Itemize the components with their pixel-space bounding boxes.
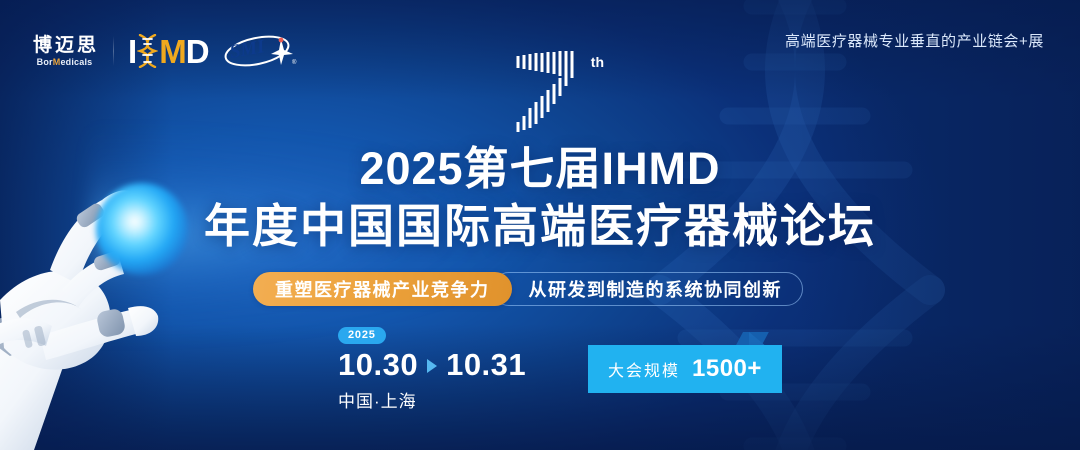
ihmd-letter-i: I (128, 35, 136, 68)
conference-banner: 博迈思 BorMedicals I (0, 0, 1080, 450)
subtitle-pills: 重塑医疗器械产业竞争力 从研发到制造的系统协同创新 (0, 272, 1080, 306)
year-badge: 2025 (338, 327, 386, 344)
tagline: 高端医疗器械专业垂直的产业链会+展 (785, 30, 1044, 51)
bormedicals-en-pre: Bor (37, 57, 53, 67)
bormedicals-logo-en: BorMedicals (37, 58, 93, 67)
page-title-line2: 年度中国国际高端医疗器械论坛 (0, 203, 1080, 249)
edition-ordinal-suffix: th (591, 54, 604, 70)
scale-ribbon-value: 1500+ (692, 355, 762, 383)
bormedicals-logo-cn: 博迈思 (30, 36, 99, 55)
event-location: 中国·上海 (338, 387, 538, 412)
logo-row: 博迈思 BorMedicals I (30, 28, 297, 74)
scale-ribbon: 大会规模 1500+ (588, 345, 782, 393)
scale-ribbon-label: 大会规模 (608, 357, 680, 381)
date-start: 10.30 (338, 349, 418, 380)
ihmd-letter-m: M (159, 35, 186, 68)
smi-logo[interactable]: SMI ® (223, 35, 297, 67)
date-end: 10.31 (446, 349, 526, 380)
dna-helix-icon (137, 34, 158, 68)
bormedicals-en-post: edicals (60, 57, 92, 67)
svg-text:SMI: SMI (228, 36, 267, 63)
subtitle-pill-primary[interactable]: 重塑医疗器械产业竞争力 (253, 272, 512, 306)
page-title-line1: 2025第七届IHMD (0, 146, 1080, 191)
svg-text:®: ® (292, 59, 297, 66)
ihmd-letter-d: D (186, 35, 209, 68)
ihmd-logo[interactable]: I M D (128, 34, 209, 68)
date-range: 10.30 10.31 (338, 349, 538, 380)
bormedicals-logo[interactable]: 博迈思 BorMedicals (30, 36, 99, 67)
subtitle-pill-secondary[interactable]: 从研发到制造的系统协同创新 (492, 272, 804, 306)
event-date-block: 2025 10.30 10.31 中国·上海 (338, 325, 538, 412)
edition-mark-7th: th (506, 48, 602, 140)
logo-divider (113, 36, 114, 66)
play-arrow-icon (427, 359, 437, 373)
